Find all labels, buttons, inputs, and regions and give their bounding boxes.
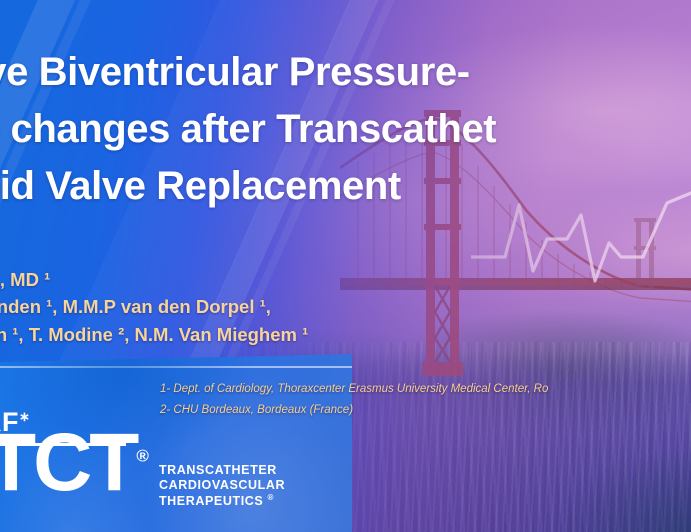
tct-subtitle-registered-icon: ®: [267, 493, 274, 502]
title-line-3: cuspid Valve Replacement: [0, 158, 691, 215]
tct-registered-icon: ®: [136, 446, 149, 465]
slide-title: vasive Biventricular Pressure- lume chan…: [0, 44, 691, 214]
title-line-2: lume changes after Transcathet: [0, 101, 691, 158]
tct-logo-subtitle: TRANSCATHETER CARDIOVASCULAR THERAPEUTIC…: [159, 463, 285, 510]
author-line-1: ndellini , MD ¹: [0, 266, 308, 293]
author-line-2: n den Enden ¹, M.M.P van den Dorpel ¹,: [0, 293, 308, 320]
author-line-3: .Daemen ¹, T. Modine ², N.M. Van Mieghem…: [0, 321, 308, 348]
tct-logo-word: TCT: [0, 417, 136, 508]
footer-divider: [0, 366, 352, 368]
title-slide: vasive Biventricular Pressure- lume chan…: [0, 0, 691, 532]
tct-subtitle-line-1: TRANSCATHETER: [159, 463, 285, 478]
tct-subtitle-word-3: THERAPEUTICS: [159, 495, 263, 509]
author-list: ndellini , MD ¹ n den Enden ¹, M.M.P van…: [0, 266, 308, 348]
title-line-1: vasive Biventricular Pressure-: [0, 44, 691, 101]
tct-logo-text: TCT®: [0, 429, 149, 496]
tct-subtitle-line-3: THERAPEUTICS ®: [159, 493, 285, 510]
affiliation-line-2: 2- CHU Bordeaux, Bordeaux (France): [160, 400, 548, 421]
affiliation-list: 1- Dept. of Cardiology, Thoraxcenter Era…: [160, 379, 548, 422]
tct-logo: TCT® TRANSCATHETER CARDIOVASCULAR THERAP…: [0, 429, 285, 510]
affiliation-line-1: 1- Dept. of Cardiology, Thoraxcenter Era…: [160, 379, 548, 400]
tct-subtitle-line-2: CARDIOVASCULAR: [159, 478, 285, 493]
